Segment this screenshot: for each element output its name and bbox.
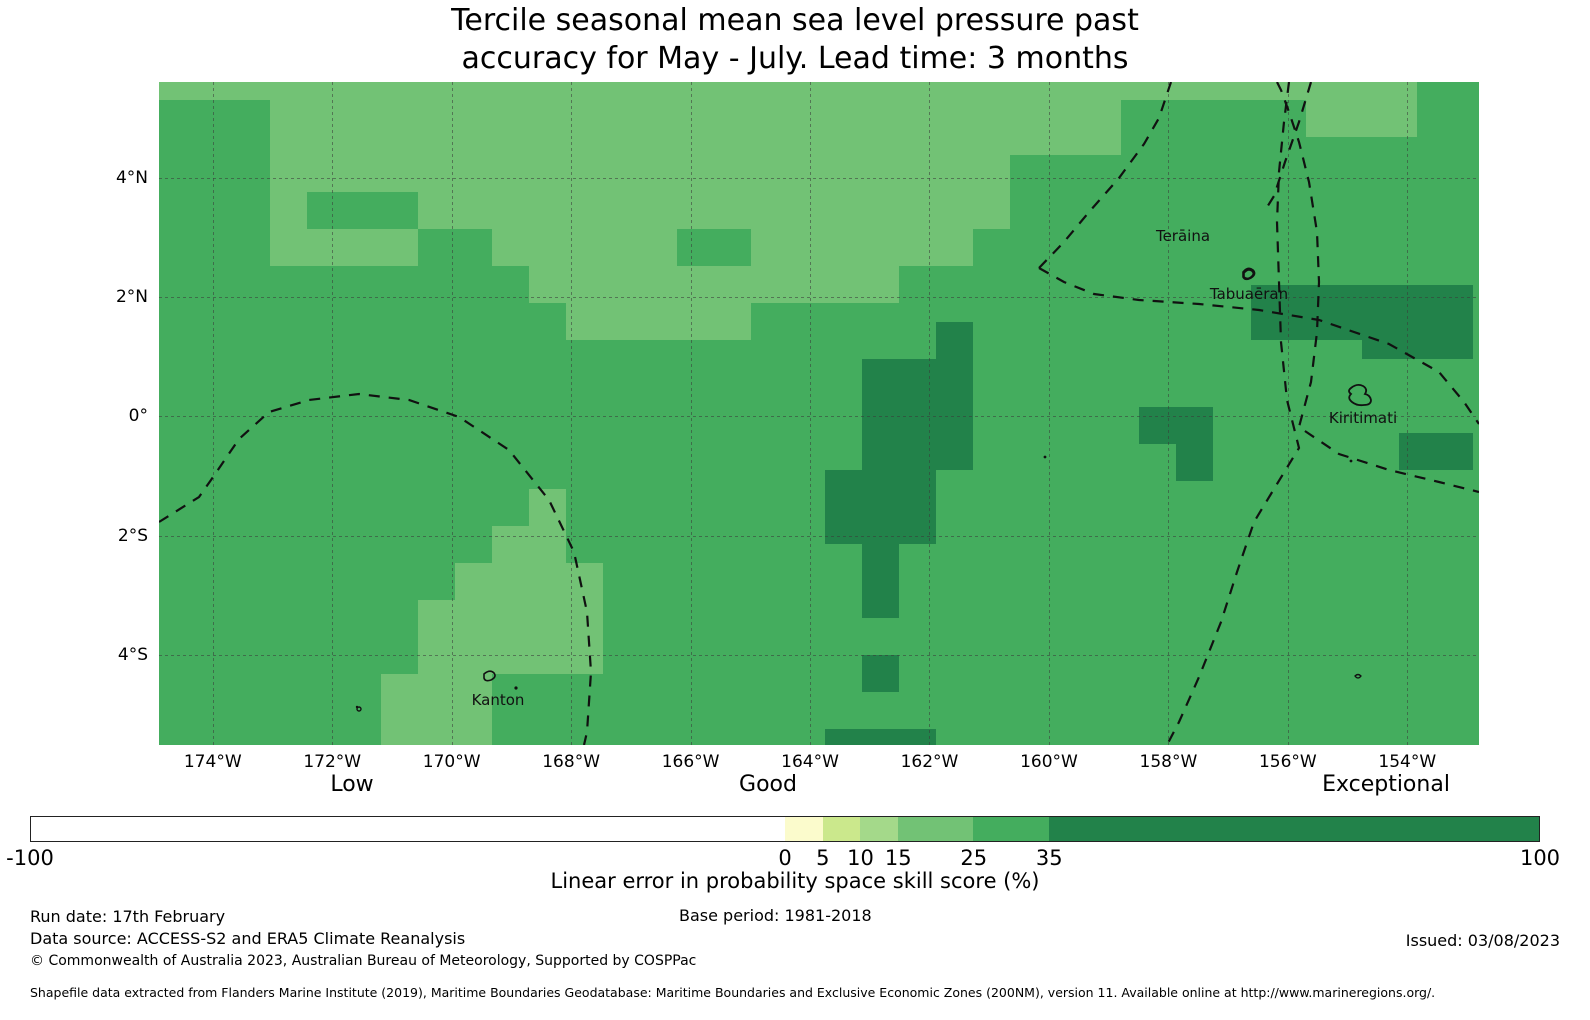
- colorbar-axis-label: Linear error in probability space skill …: [0, 869, 1590, 893]
- islet-dot-5: [1044, 456, 1047, 459]
- map-plot-area[interactable]: [159, 82, 1479, 745]
- colorbar-tick-label: 100: [1520, 846, 1560, 870]
- page-title: Tercile seasonal mean sea level pressure…: [0, 2, 1590, 78]
- x-axis-tick-label: 172°W: [303, 752, 361, 772]
- title-line-1: Tercile seasonal mean sea level pressure…: [0, 2, 1590, 40]
- colorbar-tick-label: 0: [778, 846, 791, 870]
- x-axis-tick-label: 154°W: [1378, 752, 1436, 772]
- x-axis-tick-label: 162°W: [901, 752, 959, 772]
- colorbar[interactable]: [30, 816, 1540, 842]
- shapefile-attribution: Shapefile data extracted from Flanders M…: [30, 985, 1435, 1000]
- x-axis-tick-label: 168°W: [542, 752, 600, 772]
- colorbar-tick-label: 5: [816, 846, 829, 870]
- islet-dot-1: [514, 686, 517, 689]
- colorbar-tick-label: -100: [6, 846, 54, 870]
- islet-dot-4: [1350, 460, 1353, 463]
- x-axis-tick-label: 174°W: [184, 752, 242, 772]
- colorbar-segment[interactable]: [973, 817, 1048, 841]
- island-label: Terāina: [1156, 227, 1210, 245]
- islet-dot-3: [356, 706, 358, 708]
- colorbar-tick-label: 10: [847, 846, 874, 870]
- x-axis-tick-label: 166°W: [662, 752, 720, 772]
- kiritimati-island-icon: [1349, 385, 1371, 405]
- y-axis-tick-label: 4°N: [0, 168, 148, 188]
- colorbar-tick-label: 25: [960, 846, 987, 870]
- y-axis-tick-label: 0°: [0, 406, 148, 426]
- y-axis-tick-label: 2°N: [0, 287, 148, 307]
- copyright-notice: © Commonwealth of Australia 2023, Austra…: [30, 950, 696, 972]
- colorbar-segment[interactable]: [785, 817, 823, 841]
- island-label: Kanton: [472, 691, 525, 709]
- x-axis-tick-label: 158°W: [1140, 752, 1198, 772]
- run-date: Run date: 17th February: [30, 906, 696, 928]
- colorbar-segment[interactable]: [823, 817, 861, 841]
- islet-dot-6: [1355, 675, 1361, 679]
- colorbar-segment[interactable]: [898, 817, 973, 841]
- colorbar-tick-label: 15: [885, 846, 912, 870]
- base-period: Base period: 1981-2018: [679, 906, 872, 925]
- x-axis-tick-label: 164°W: [781, 752, 839, 772]
- y-axis-tick-label: 2°S: [0, 526, 148, 546]
- island-outline-layer: [159, 82, 1479, 745]
- x-axis-tick-label: 160°W: [1020, 752, 1078, 772]
- x-axis-tick-label: 156°W: [1259, 752, 1317, 772]
- y-axis-tick-label: 4°S: [0, 645, 148, 665]
- colorbar-category-label: Good: [739, 772, 797, 797]
- colorbar-segment[interactable]: [1049, 817, 1539, 841]
- data-source: Data source: ACCESS-S2 and ERA5 Climate …: [30, 928, 696, 950]
- island-label: Tabuaēran: [1210, 285, 1288, 303]
- footer-left: Run date: 17th February Data source: ACC…: [30, 906, 696, 972]
- colorbar-category-label: Exceptional: [1322, 772, 1450, 797]
- colorbar-category-label: Low: [330, 772, 373, 797]
- x-axis-tick-label: 170°W: [423, 752, 481, 772]
- island-label: Kiritimati: [1329, 409, 1397, 427]
- figure-canvas: Tercile seasonal mean sea level pressure…: [0, 0, 1590, 1020]
- issued-date: Issued: 03/08/2023: [1406, 931, 1560, 950]
- colorbar-segment[interactable]: [31, 817, 785, 841]
- colorbar-tick-label: 35: [1036, 846, 1063, 870]
- kanton-island-icon: [484, 671, 495, 680]
- title-line-2: accuracy for May - July. Lead time: 3 mo…: [0, 40, 1590, 78]
- colorbar-segment[interactable]: [860, 817, 898, 841]
